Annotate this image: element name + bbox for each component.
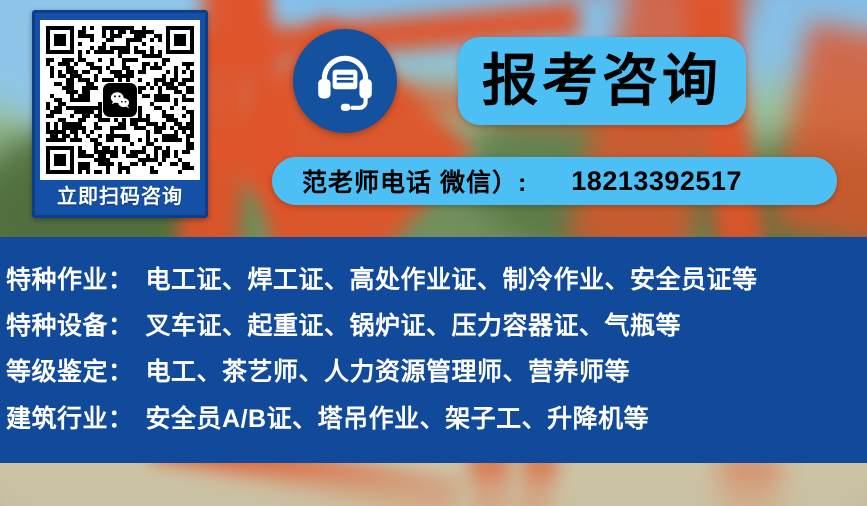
service-row-special-equipment: 特种设备： 叉车证、起重证、锅炉证、压力容器证、气瓶等: [0, 306, 681, 342]
service-row-label: 建筑行业：: [6, 399, 134, 435]
qr-code-image[interactable]: [40, 20, 200, 180]
service-row-grade-assessment: 等级鉴定： 电工、茶艺师、人力资源管理师、营养师等: [0, 352, 630, 388]
service-row-label: 特种作业：: [6, 260, 134, 296]
headset-support-icon: [293, 29, 397, 133]
service-row-label: 等级鉴定：: [6, 352, 134, 388]
title-pill: 报考咨询: [458, 37, 746, 125]
services-band: 特种作业： 电工证、焊工证、高处作业证、制冷作业、安全员证等 特种设备： 叉车证…: [0, 237, 867, 463]
service-row-construction-industry: 建筑行业： 安全员A/B证、塔吊作业、架子工、升降机等: [0, 399, 649, 435]
contact-label: 范老师电话 微信）:: [302, 163, 527, 199]
service-row-label: 特种设备：: [6, 306, 134, 342]
service-row-value: 电工、茶艺师、人力资源管理师、营养师等: [146, 352, 631, 388]
service-row-value: 电工证、焊工证、高处作业证、制冷作业、安全员证等: [146, 260, 758, 296]
service-row-special-operations: 特种作业： 电工证、焊工证、高处作业证、制冷作业、安全员证等: [0, 260, 758, 296]
qr-code-panel[interactable]: 立即扫码咨询: [32, 10, 208, 218]
qr-caption: 立即扫码咨询: [57, 187, 183, 207]
service-row-value: 安全员A/B证、塔吊作业、架子工、升降机等: [146, 399, 650, 435]
contact-phone-pill[interactable]: 范老师电话 微信）: 18213392517: [272, 157, 837, 205]
service-row-value: 叉车证、起重证、锅炉证、压力容器证、气瓶等: [146, 306, 682, 342]
wechat-icon: [103, 83, 137, 117]
page-title: 报考咨询: [482, 53, 722, 109]
contact-number[interactable]: 18213392517: [571, 166, 742, 197]
poster-root: 立即扫码咨询 报考咨询 范老师电话 微信）: 18213392517 特种作业：…: [0, 0, 867, 506]
ground-blob: [0, 470, 867, 506]
